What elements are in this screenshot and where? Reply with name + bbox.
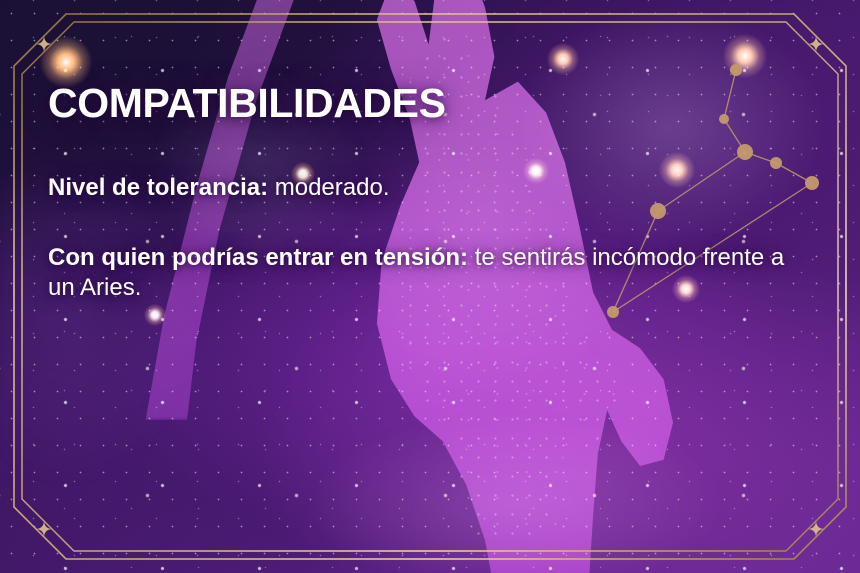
tolerancia-value: moderado. [268,174,389,201]
tension-label: Con quien podrías entrar en tensión: [48,244,468,271]
paragraph-tolerancia: Nivel de tolerancia: moderado. [48,173,808,204]
horoscope-compatibility-card: COMPATIBILIDADES Nivel de tolerancia: mo… [0,0,860,573]
tolerancia-label: Nivel de tolerancia: [48,174,268,201]
page-title: COMPATIBILIDADES [48,82,808,125]
paragraph-tension: Con quien podrías entrar en tensión: te … [48,243,808,304]
text-content: COMPATIBILIDADES Nivel de tolerancia: mo… [48,82,808,304]
